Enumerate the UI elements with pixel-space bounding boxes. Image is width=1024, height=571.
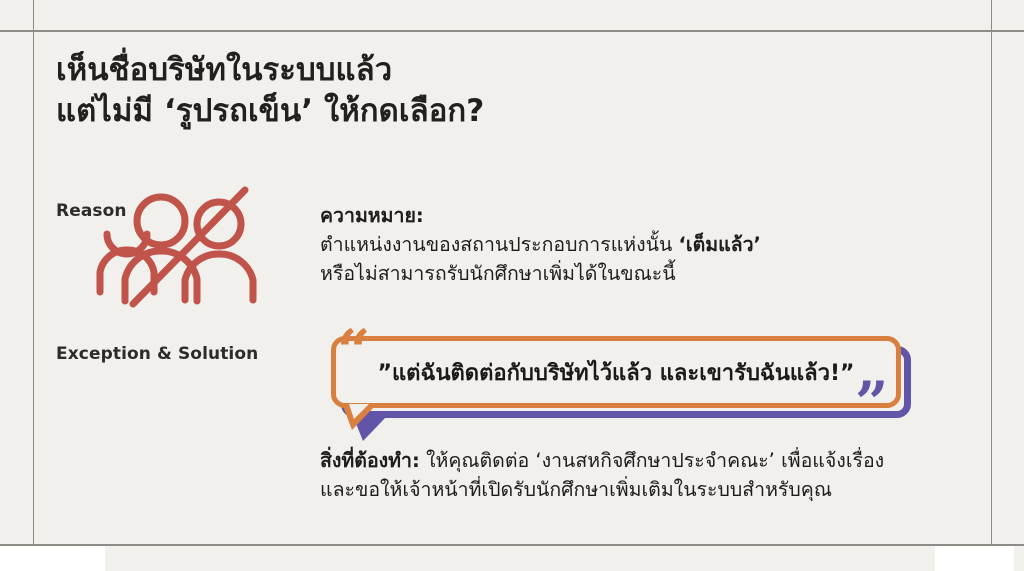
quote-callout: ”แต่ฉันติดต่อกับบริษัทไว้แล้ว และเขารับฉ… <box>325 330 925 435</box>
guide-line-top <box>0 30 1024 32</box>
page-title-line-2: แต่ไม่มี ‘รูปรถเข็น’ ให้กดเลือก? <box>56 91 756 132</box>
action-text-block: สิ่งที่ต้องทำ: ให้คุณติดต่อ ‘งานสหกิจศึก… <box>320 447 980 505</box>
guide-line-bottom <box>0 544 1024 546</box>
guide-line-left <box>33 0 34 545</box>
quote-open-mark-icon: “ <box>337 322 370 380</box>
quote-text: ”แต่ฉันติดต่อกับบริษัทไว้แล้ว และเขารับฉ… <box>331 336 901 408</box>
page-title-line-1: เห็นชื่อบริษัทในระบบแล้ว <box>56 50 756 91</box>
no-group-available-icon <box>95 186 270 308</box>
action-line-2: และขอให้เจ้าหน้าที่เปิดรับนักศึกษาเพิ่มเ… <box>320 476 980 505</box>
meaning-heading: ความหมาย: <box>320 202 960 231</box>
meaning-line-2: หรือไม่สามารถรับนักศึกษาเพิ่มได้ในขณะนี้ <box>320 260 960 289</box>
page-title: เห็นชื่อบริษัทในระบบแล้ว แต่ไม่มี ‘รูปรถ… <box>56 50 756 132</box>
action-line-1: สิ่งที่ต้องทำ: ให้คุณติดต่อ ‘งานสหกิจศึก… <box>320 447 980 476</box>
meaning-line-1-prefix: ตำแหน่งงานของสถานประกอบการแห่งนั้น <box>320 233 679 256</box>
slide-canvas: เห็นชื่อบริษัทในระบบแล้ว แต่ไม่มี ‘รูปรถ… <box>0 0 1024 571</box>
meaning-line-1-emphasis: ‘เต็มแล้ว’ <box>679 233 761 256</box>
guide-line-right <box>991 0 992 545</box>
meaning-text-block: ความหมาย: ตำแหน่งงานของสถานประกอบการแห่ง… <box>320 202 960 289</box>
bottom-right-beige-chip <box>1014 546 1024 571</box>
action-heading: สิ่งที่ต้องทำ: <box>320 449 420 472</box>
meaning-line-1: ตำแหน่งงานของสถานประกอบการแห่งนั้น ‘เต็ม… <box>320 231 960 260</box>
quote-close-mark-icon: ” <box>855 374 888 432</box>
action-line-1-rest: ให้คุณติดต่อ ‘งานสหกิจศึกษาประจำคณะ’ เพื… <box>420 449 884 472</box>
section-label-exception-solution: Exception & Solution <box>56 344 258 364</box>
bottom-beige-panel <box>105 546 935 571</box>
